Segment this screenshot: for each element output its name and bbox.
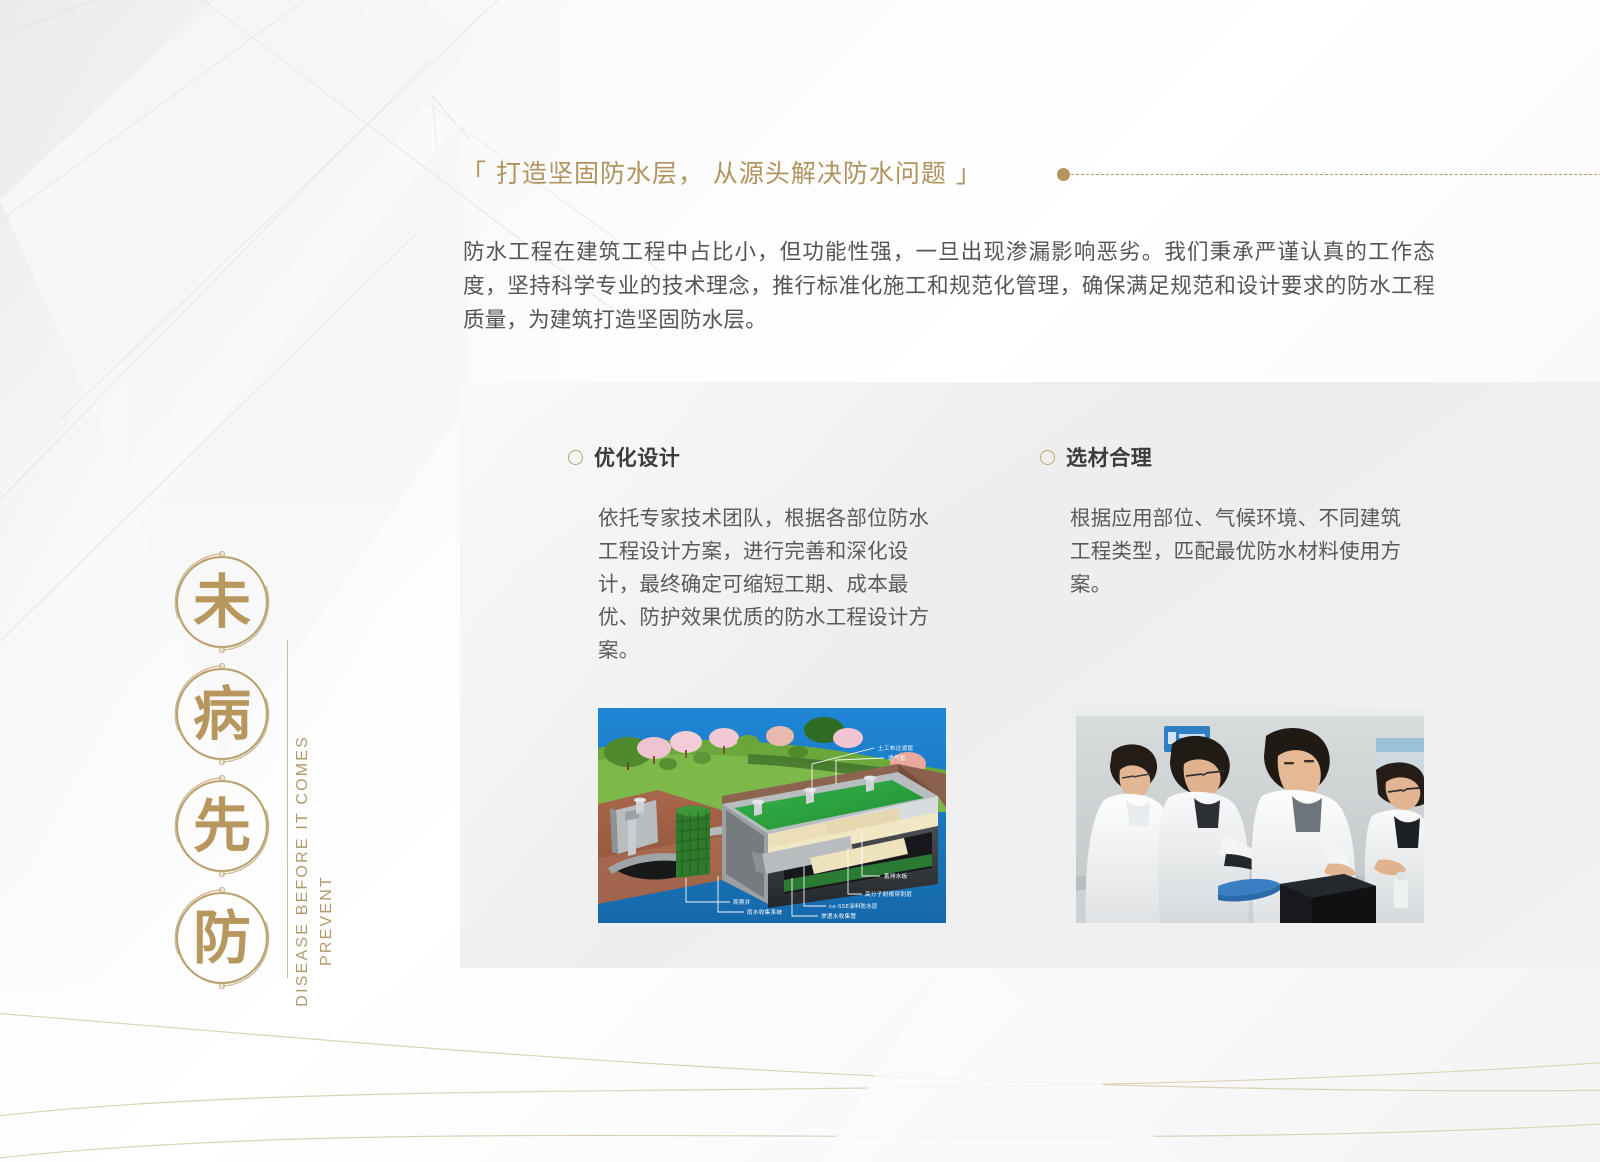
content-panel: 优化设计 依托专家技术团队，根据各部位防水工程设计方案，进行完善和深化设计，最终… [460, 382, 1600, 968]
seal-1: 未 [168, 548, 276, 656]
circle-bullet-icon [1040, 450, 1055, 465]
intro-paragraph: 防水工程在建筑工程中占比小，但功能性强，一旦出现渗漏影响恶劣。我们秉承严谨认真的… [463, 236, 1435, 338]
card-header: 优化设计 [568, 442, 968, 472]
page-title: 「 打造坚固防水层， 从源头解决防水问题 」 [461, 154, 982, 190]
feature-card: 选材合理 根据应用部位、气候环境、不同建筑工程类型，匹配最优防水材料使用方案。 [1040, 442, 1440, 601]
brand-seal-group: 未 病 先 [168, 548, 280, 996]
lab-technicians-photo-image [1076, 708, 1424, 923]
diagram-label: 高分子耐根穿刺层 [865, 890, 912, 898]
diagram-label: 雨水收集系统 [747, 908, 782, 916]
diagram-label: 土工布过滤层 [878, 744, 913, 752]
dot-marker [1057, 168, 1070, 181]
diagram-label: 透气管 [888, 754, 906, 762]
card-body-text: 根据应用部位、气候环境、不同建筑工程类型，匹配最优防水材料使用方案。 [1070, 502, 1418, 601]
title-dash-connector [1057, 168, 1600, 181]
card-header: 选材合理 [1040, 442, 1440, 472]
waterproofing-system-diagram-image: 土工布过滤层 透气管 蓄排水板 高分子耐根穿刺层 cx-SSE涂料防水层 渗透水… [598, 708, 946, 923]
seal-2: 病 [168, 660, 276, 768]
seal-character: 先 [168, 772, 276, 880]
seal-character: 病 [168, 660, 276, 768]
seal-character: 未 [168, 548, 276, 656]
card-body-text: 依托专家技术团队，根据各部位防水工程设计方案，进行完善和深化设计，最终确定可缩短… [598, 502, 946, 667]
vertical-tagline-primary: DISEASE BEFORE IT COMES [294, 735, 312, 1007]
diagram-label: cx-SSE涂料防水层 [829, 902, 878, 910]
card-title: 优化设计 [594, 442, 680, 472]
feature-card: 优化设计 依托专家技术团队，根据各部位防水工程设计方案，进行完善和深化设计，最终… [568, 442, 968, 667]
seal-3: 先 [168, 772, 276, 880]
card-title: 选材合理 [1066, 442, 1152, 472]
diagram-label: 渗透水收集管 [821, 912, 856, 920]
diagram-label: 观察井 [733, 898, 751, 906]
diagram-label: 蓄排水板 [884, 872, 908, 880]
seal-divider-line [287, 640, 288, 978]
circle-bullet-icon [568, 450, 583, 465]
slide-root: 「 打造坚固防水层， 从源头解决防水问题 」 防水工程在建筑工程中占比小，但功能… [0, 0, 1600, 1162]
seal-4: 防 [168, 884, 276, 992]
vertical-tagline-secondary: PREVENT [318, 875, 336, 966]
feature-card-list: 优化设计 依托专家技术团队，根据各部位防水工程设计方案，进行完善和深化设计，最终… [460, 382, 1600, 968]
seal-character: 防 [168, 884, 276, 992]
dashed-rule [1071, 174, 1600, 175]
